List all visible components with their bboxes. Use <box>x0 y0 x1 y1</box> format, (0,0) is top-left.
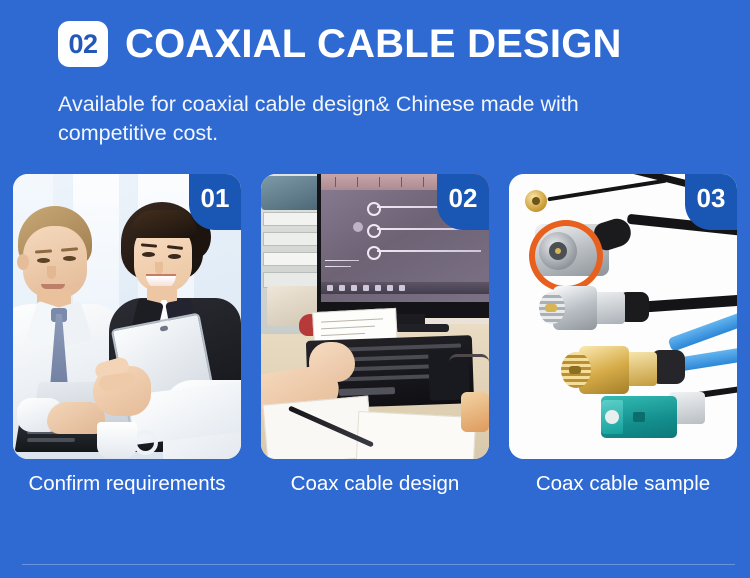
card-3-caption: Coax cable sample <box>509 470 737 497</box>
process-card-1: 01 <box>13 174 241 459</box>
step-number-badge: 02 <box>58 21 108 67</box>
coaxial-cable-design-slide: 02 COAXIAL CABLE DESIGN Available for co… <box>0 0 750 578</box>
page-title: COAXIAL CABLE DESIGN <box>125 22 622 66</box>
card-row: 01 <box>13 174 737 459</box>
card-2-caption: Coax cable design <box>261 470 489 497</box>
process-card-2: 02 <box>261 174 489 459</box>
card-1-number-badge: 01 <box>189 174 241 230</box>
caption-row: Confirm requirements Coax cable design C… <box>13 470 737 497</box>
card-3-number-badge: 03 <box>685 174 737 230</box>
header: 02 COAXIAL CABLE DESIGN Available for co… <box>0 0 750 165</box>
page-subtitle: Available for coaxial cable design& Chin… <box>58 90 668 148</box>
bottom-divider <box>22 564 735 565</box>
title-row: 02 COAXIAL CABLE DESIGN <box>58 21 622 67</box>
process-card-3: 03 <box>509 174 737 459</box>
card-2-number-badge: 02 <box>437 174 489 230</box>
card-1-caption: Confirm requirements <box>13 470 241 497</box>
